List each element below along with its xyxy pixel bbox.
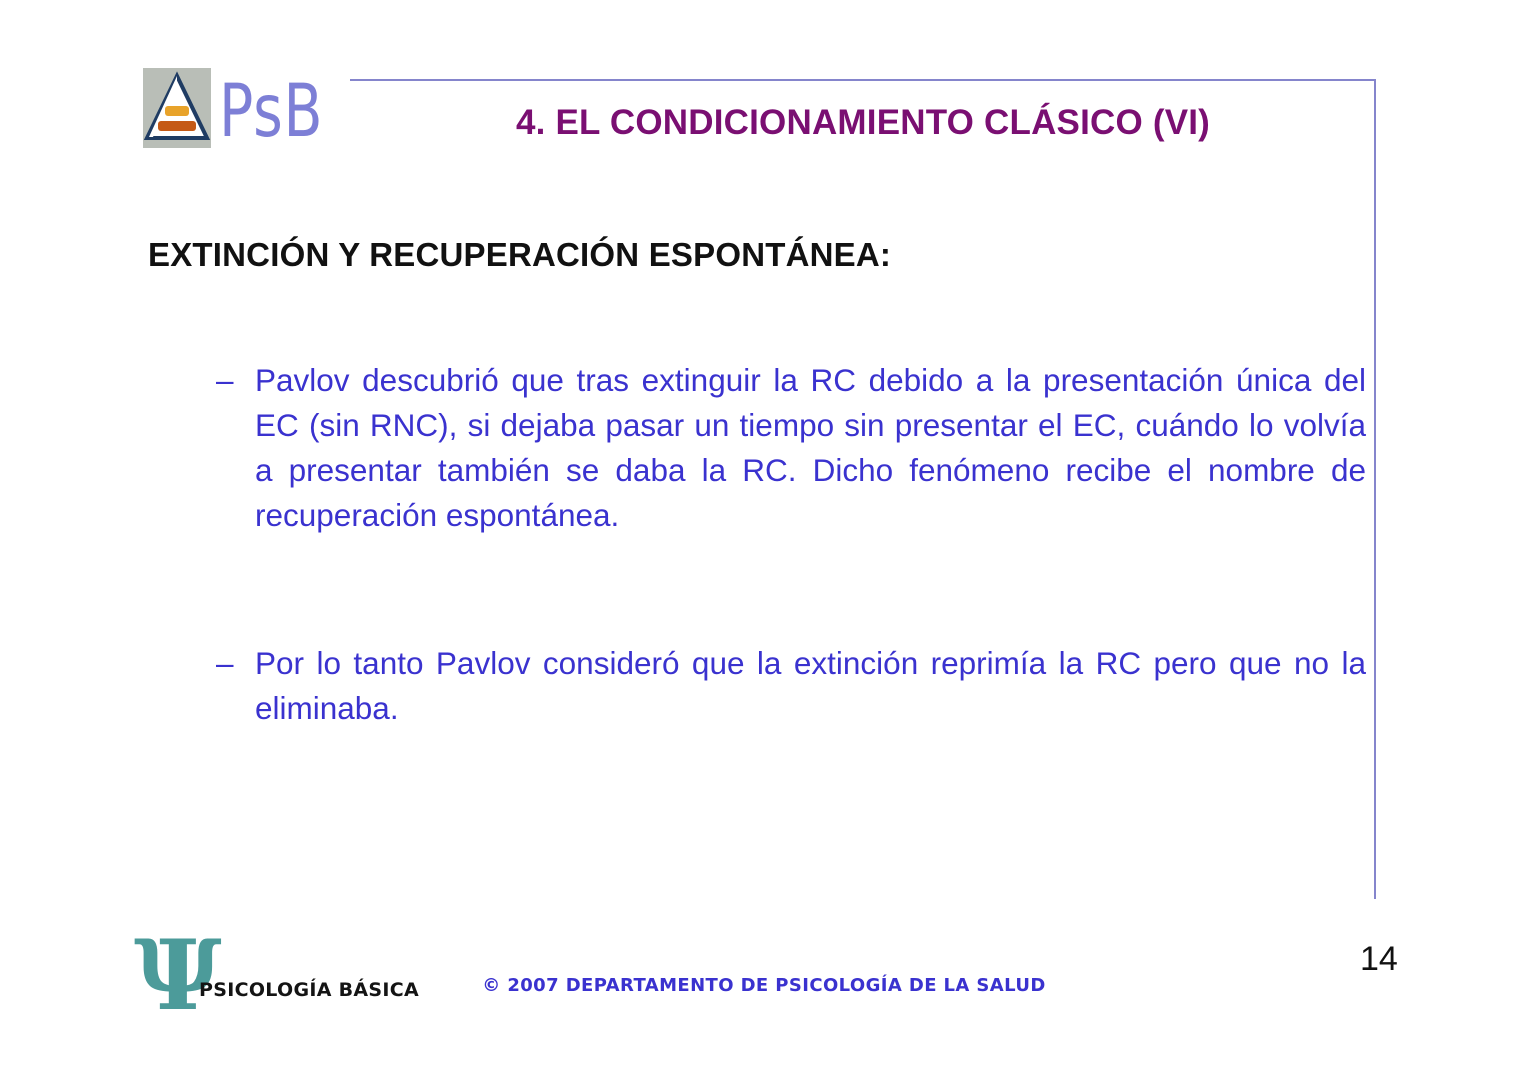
page-number: 14 xyxy=(1360,940,1398,979)
header-horizontal-rule xyxy=(350,79,1376,81)
list-item-text: Pavlov descubrió que tras extinguir la R… xyxy=(255,358,1366,538)
bullet-dash-icon: – xyxy=(216,358,234,403)
list-item: – Pavlov descubrió que tras extinguir la… xyxy=(216,358,1366,538)
page-title: 4. EL CONDICIONAMIENTO CLÁSICO (VI) xyxy=(350,103,1376,143)
psb-logo: PsB xyxy=(143,68,343,163)
footer-copyright: © 2007 DEPARTAMENTO DE PSICOLOGÍA DE LA … xyxy=(0,975,1528,996)
list-item-text: Por lo tanto Pavlov consideró que la ext… xyxy=(255,641,1366,731)
bullet-dash-icon: – xyxy=(216,641,234,686)
right-vertical-rule xyxy=(1374,79,1376,899)
section-heading: EXTINCIÓN Y RECUPERACIÓN ESPONTÁNEA: xyxy=(148,236,891,274)
psb-wordmark: PsB xyxy=(219,66,323,158)
bullet-list: – Pavlov descubrió que tras extinguir la… xyxy=(216,358,1366,731)
list-item: – Por lo tanto Pavlov consideró que la e… xyxy=(216,641,1366,731)
slide-canvas: PsB 4. EL CONDICIONAMIENTO CLÁSICO (VI) … xyxy=(0,0,1528,1080)
psb-pyramid-icon xyxy=(143,68,211,148)
